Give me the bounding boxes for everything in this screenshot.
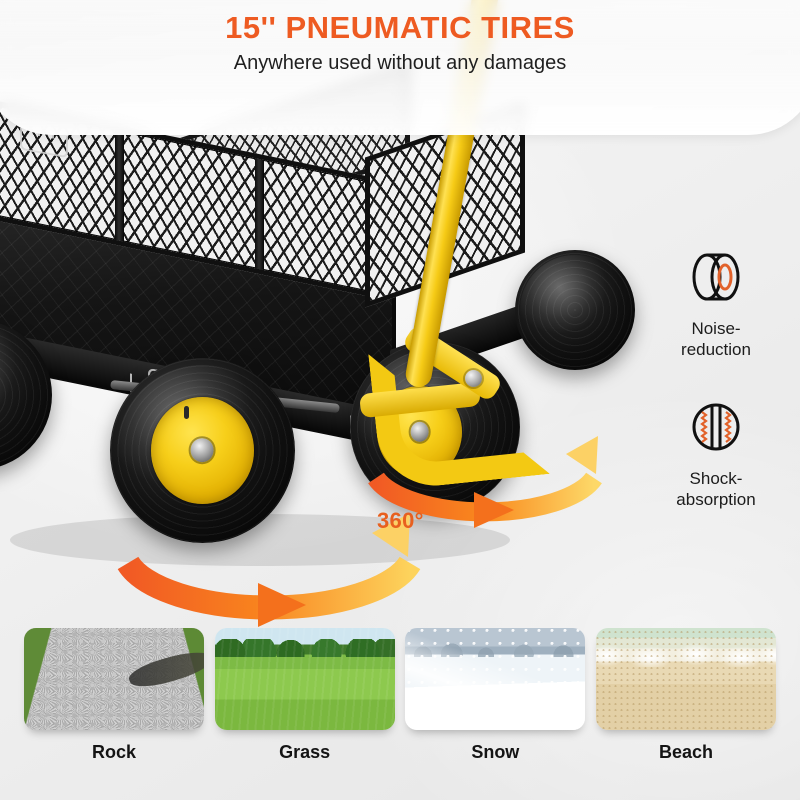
header-banner: 15'' PNEUMATIC TIRES Anywhere used witho… — [0, 0, 800, 135]
terrain-thumbnail-strip: Rock Grass Snow Beach — [0, 628, 800, 763]
green-lawn-scene — [215, 628, 395, 730]
feature-label: Noise- reduction — [636, 318, 796, 361]
terrain-card-snow[interactable]: Snow — [405, 628, 585, 763]
terrain-label: Rock — [24, 742, 204, 763]
tire-cylinder-icon — [636, 248, 796, 310]
feature-label: Shock- absorption — [636, 468, 796, 511]
terrain-card-beach[interactable]: Beach — [596, 628, 776, 763]
terrain-card-grass[interactable]: Grass — [215, 628, 395, 763]
terrain-image-rock — [24, 628, 204, 730]
pivot-bolt — [465, 370, 482, 387]
rotation-degree-label: 360° — [377, 508, 424, 534]
page-subtitle: Anywhere used without any damages — [0, 53, 800, 73]
terrain-image-grass — [215, 628, 395, 730]
cart-wall-post — [255, 158, 264, 270]
cart-wall-post — [115, 130, 124, 242]
shock-spring-icon — [636, 398, 796, 460]
terrain-label: Snow — [405, 742, 585, 763]
feature-shock-absorption: Shock- absorption — [636, 398, 796, 511]
tire-valve-stem — [184, 406, 189, 419]
feature-noise-reduction: Noise- reduction — [636, 248, 796, 361]
gravel-path-scene — [24, 628, 204, 730]
snow-field-scene — [405, 628, 585, 730]
product-feature-image: 360° 15'' PNEUMATIC TIRES Anywhere used … — [0, 0, 800, 800]
page-title: 15'' PNEUMATIC TIRES — [0, 12, 800, 43]
terrain-label: Grass — [215, 742, 395, 763]
terrain-card-rock[interactable]: Rock — [24, 628, 204, 763]
terrain-label: Beach — [596, 742, 776, 763]
terrain-image-beach — [596, 628, 776, 730]
terrain-image-snow — [405, 628, 585, 730]
wheel-hub-yellow — [151, 397, 255, 504]
sand-surf-scene — [596, 628, 776, 730]
